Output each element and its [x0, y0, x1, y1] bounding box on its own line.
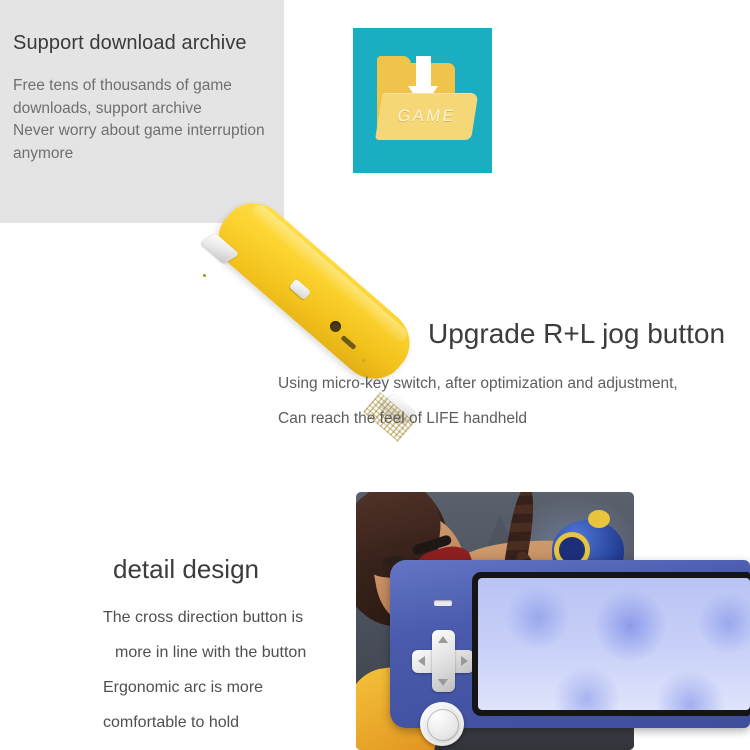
- detail-body-line-4: comfortable to hold: [103, 705, 306, 740]
- console-speaker-slot-icon: [434, 600, 452, 606]
- yellow-console-body: [205, 190, 423, 392]
- headphone-jack-icon: [330, 321, 341, 332]
- archive-body-line-3: Never worry about game interruption: [13, 120, 291, 143]
- folder-label: GAME: [375, 93, 478, 140]
- dpad-left-arrow-icon: [418, 656, 425, 666]
- console-screen-display: [478, 578, 750, 710]
- console-screen-bezel: [472, 572, 750, 716]
- detail-body-line-1: The cross direction button is: [103, 600, 306, 635]
- archive-section-title: Support download archive: [13, 32, 283, 55]
- dpad-down-arrow-icon: [438, 679, 448, 686]
- jog-button-body-line-1: Using micro-key switch, after optimizati…: [278, 375, 678, 393]
- archive-body-line-2: downloads, support archive: [13, 98, 291, 121]
- yellow-handheld-photo: [170, 228, 450, 468]
- archive-body-line-1: Free tens of thousands of game: [13, 75, 291, 98]
- archive-body-line-4: anymore: [13, 143, 291, 166]
- reset-pinhole-icon: [362, 359, 365, 362]
- game-download-folder-icon: GAME: [353, 28, 492, 173]
- folder-front-icon: GAME: [375, 93, 478, 140]
- dpad-right-arrow-icon: [461, 656, 468, 666]
- jog-button-body-line-2: Can reach the feel of LIFE handheld: [278, 410, 527, 428]
- analog-stick: [420, 702, 464, 746]
- helmet-top-ornament: [588, 510, 610, 528]
- detail-design-section-body: The cross direction button is more in li…: [103, 600, 306, 740]
- blue-handheld-console: [390, 560, 750, 728]
- detail-design-section-title: detail design: [113, 554, 259, 585]
- folder-graphic: GAME: [375, 53, 471, 148]
- microphone-hole-icon: [203, 274, 206, 277]
- detail-body-line-3: Ergonomic arc is more: [103, 670, 306, 705]
- dpad-up-arrow-icon: [438, 636, 448, 643]
- jog-button-section-title: Upgrade R+L jog button: [428, 318, 725, 350]
- download-arrow-stem: [416, 56, 431, 88]
- cross-direction-button: [412, 630, 474, 692]
- detail-body-line-2: more in line with the button: [103, 635, 306, 670]
- archive-section-body: Free tens of thousands of game downloads…: [13, 75, 291, 165]
